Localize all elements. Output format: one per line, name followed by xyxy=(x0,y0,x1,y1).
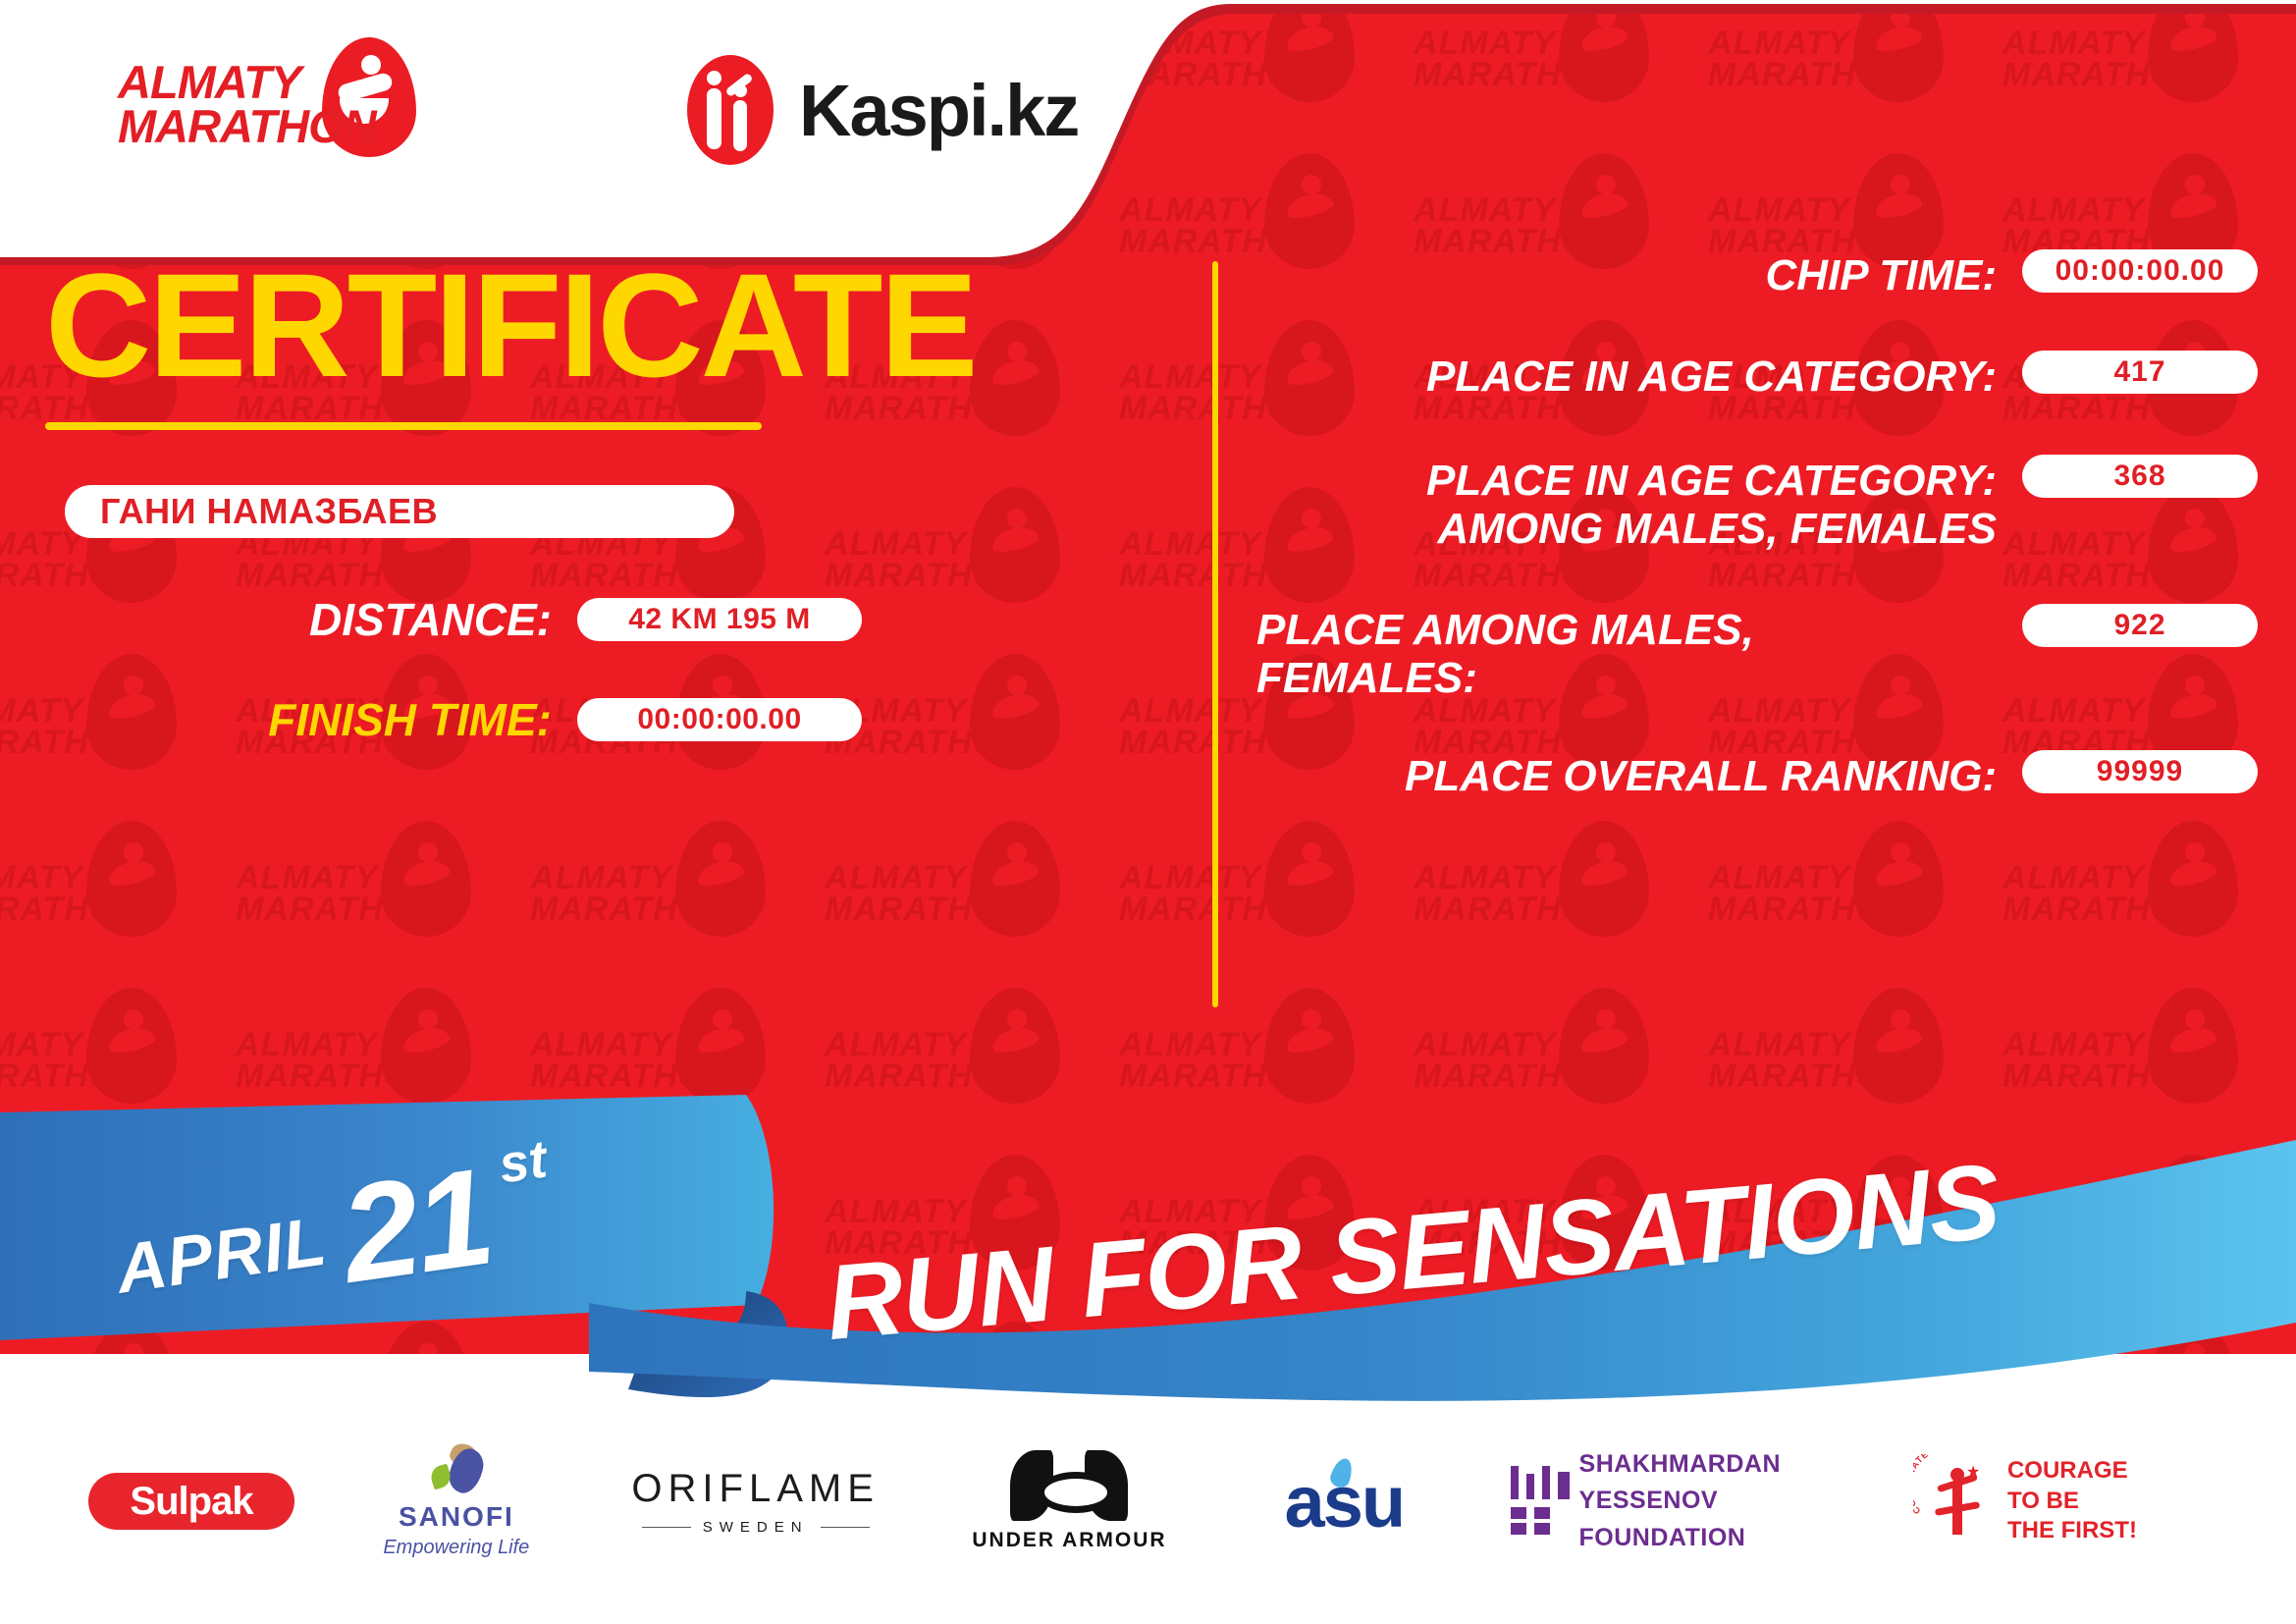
stat-row-place-overall-ranking: PLACE OVERALL RANKING: 99999 xyxy=(1256,750,2258,800)
finish-time-label: FINISH TIME: xyxy=(267,693,552,746)
almaty-marathon-logo-text: ALMATY MARATHON xyxy=(118,61,376,148)
stat-value: 417 xyxy=(2022,351,2258,394)
yessenov-name: SHAKHMARDAN YESSENOV FOUNDATION xyxy=(1579,1446,1845,1557)
sponsor-strip: Sulpak SANOFI Empowering Life ORIFLAME S… xyxy=(0,1379,2296,1624)
sulpak-logo: Sulpak xyxy=(88,1473,294,1530)
courage-figure-icon: ★ xyxy=(1939,1468,1974,1539)
sanofi-tagline: Empowering Life xyxy=(363,1537,550,1559)
certificate-page: ALMATYMARATHONALMATYMARATHONALMATYMARATH… xyxy=(0,0,2296,1624)
stat-label-line-2: AMONG MALES, FEMALES xyxy=(1256,505,1997,553)
yessenov-foundation-logo: SHAKHMARDAN YESSENOV FOUNDATION xyxy=(1511,1446,1844,1557)
sanofi-logo: SANOFI Empowering Life xyxy=(363,1444,550,1559)
distance-value: 42 KM 195 M xyxy=(577,598,862,641)
courage-fund-logo: CORPORATE FUND ★ COURAGE TO BE THE FIRST… xyxy=(1913,1454,2208,1548)
column-divider xyxy=(1212,261,1218,1007)
kaspi-people-icon xyxy=(687,55,774,165)
logo-line-1: ALMATY xyxy=(118,61,376,105)
courage-line-1: COURAGE xyxy=(2007,1456,2137,1487)
stat-label: PLACE OVERALL RANKING: xyxy=(1256,750,2022,800)
stat-value: 368 xyxy=(2022,455,2258,498)
stat-value: 99999 xyxy=(2022,750,2258,793)
kaspi-logo: Kaspi.kz xyxy=(687,55,1078,165)
asu-logo: asu xyxy=(1246,1460,1442,1543)
event-day: 21 xyxy=(336,1161,497,1290)
stat-label-line-2: FEMALES: xyxy=(1256,654,1997,702)
almaty-marathon-logo: ALMATY MARATHON xyxy=(118,47,442,175)
stats-column: CHIP TIME: 00:00:00.00 PLACE IN AGE CATE… xyxy=(1256,249,2258,839)
stat-label: PLACE AMONG MALES, FEMALES: xyxy=(1256,604,2022,703)
stat-row-place-age-category: PLACE IN AGE CATEGORY: 417 xyxy=(1256,351,2258,401)
logo-line-2: MARATHON xyxy=(118,105,376,149)
courage-name: COURAGE TO BE THE FIRST! xyxy=(2007,1456,2137,1546)
courage-line-3: THE FIRST! xyxy=(2007,1516,2137,1546)
sanofi-mark-icon xyxy=(427,1444,486,1495)
stat-label: PLACE IN AGE CATEGORY: xyxy=(1256,351,2022,401)
oriflame-logo: ORIFLAME SWEDEN xyxy=(618,1467,893,1536)
courage-mark-icon: CORPORATE FUND ★ xyxy=(1913,1454,1998,1548)
oriflame-sub-text: SWEDEN xyxy=(703,1519,809,1536)
stat-value: 922 xyxy=(2022,604,2258,647)
title-divider xyxy=(45,422,762,430)
header: ALMATY MARATHON Kaspi.kz xyxy=(0,0,2296,295)
participant-name-value: ГАНИ НАМАЗБАЕВ xyxy=(100,491,438,532)
sponsor-oriflame: ORIFLAME SWEDEN xyxy=(618,1467,893,1536)
oriflame-sub: SWEDEN xyxy=(618,1519,893,1536)
finish-time-value: 00:00:00.00 xyxy=(577,698,862,741)
stat-label-line-1: PLACE IN AGE CATEGORY: xyxy=(1256,457,1997,505)
oriflame-name: ORIFLAME xyxy=(618,1467,893,1511)
participant-name-field[interactable]: ГАНИ НАМАЗБАЕВ xyxy=(65,485,734,538)
sanofi-name: SANOFI xyxy=(363,1501,550,1533)
left-column: CERTIFICATE ГАНИ НАМАЗБАЕВ DISTANCE: 42 … xyxy=(0,251,1207,746)
header-logos: ALMATY MARATHON Kaspi.kz xyxy=(0,0,1178,196)
sponsor-courage-fund: CORPORATE FUND ★ COURAGE TO BE THE FIRST… xyxy=(1913,1454,2208,1548)
sponsor-sanofi: SANOFI Empowering Life xyxy=(363,1444,550,1559)
yessenov-mark-icon xyxy=(1511,1466,1557,1537)
under-armour-logo: UNDER ARMOUR xyxy=(961,1450,1177,1552)
stat-row-place-age-category-among: PLACE IN AGE CATEGORY: AMONG MALES, FEMA… xyxy=(1256,455,2258,554)
yessenov-name-line-2: FOUNDATION xyxy=(1579,1520,1845,1557)
sponsor-under-armour: UNDER ARMOUR xyxy=(961,1450,1177,1552)
sponsor-asu: asu xyxy=(1246,1460,1442,1543)
under-armour-name: UNDER ARMOUR xyxy=(961,1529,1177,1552)
sponsor-sulpak: Sulpak xyxy=(88,1473,294,1530)
courage-line-2: TO BE xyxy=(2007,1487,2137,1517)
stat-row-place-among-males-females: PLACE AMONG MALES, FEMALES: 922 xyxy=(1256,604,2258,703)
stat-label: PLACE IN AGE CATEGORY: AMONG MALES, FEMA… xyxy=(1256,455,2022,554)
under-armour-mark-icon xyxy=(1010,1450,1128,1521)
distance-row: DISTANCE: 42 KM 195 M xyxy=(267,593,1207,646)
kaspi-logo-text: Kaspi.kz xyxy=(799,69,1078,152)
certificate-body: CERTIFICATE ГАНИ НАМАЗБАЕВ DISTANCE: 42 … xyxy=(0,192,2296,1135)
sponsor-yessenov-foundation: SHAKHMARDAN YESSENOV FOUNDATION xyxy=(1511,1446,1844,1557)
distance-label: DISTANCE: xyxy=(267,593,552,646)
finish-time-row: FINISH TIME: 00:00:00.00 xyxy=(267,693,1207,746)
stat-label-line-1: PLACE AMONG MALES, xyxy=(1256,606,1997,654)
yessenov-name-line-1: SHAKHMARDAN YESSENOV xyxy=(1579,1446,1845,1520)
